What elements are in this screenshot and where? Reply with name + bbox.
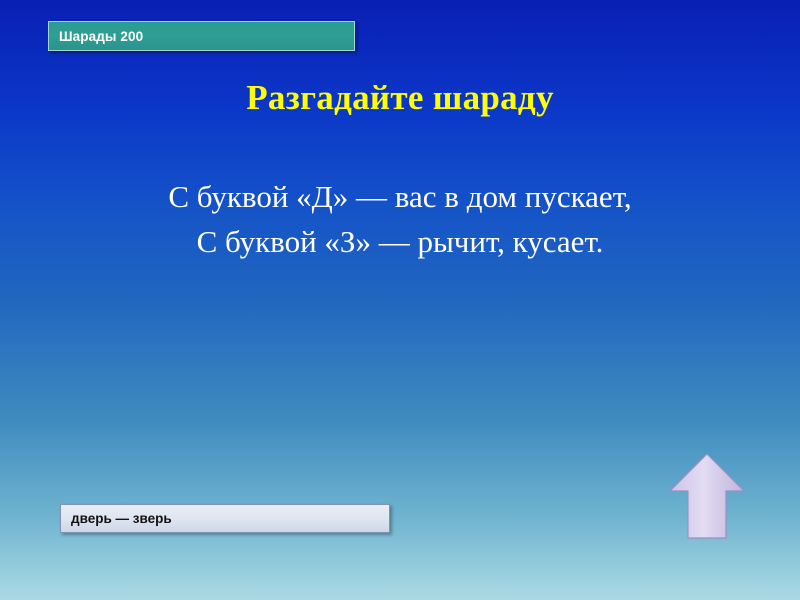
slide-canvas: Шарады 200 Разгадайте шараду С буквой «Д… (0, 0, 800, 600)
category-tag-label: Шарады 200 (49, 29, 143, 44)
up-arrow-icon (668, 451, 746, 541)
riddle-text: С буквой «Д» — вас в дом пускает, С букв… (0, 175, 800, 265)
answer-label: дверь — зверь (61, 511, 172, 526)
up-arrow-button[interactable] (668, 451, 746, 541)
riddle-line-1: С буквой «Д» — вас в дом пускает, (0, 175, 800, 220)
category-tag: Шарады 200 (48, 21, 355, 51)
page-title: Разгадайте шараду (0, 78, 800, 118)
answer-box: дверь — зверь (60, 504, 390, 533)
riddle-line-2: С буквой «З» — рычит, кусает. (0, 220, 800, 265)
